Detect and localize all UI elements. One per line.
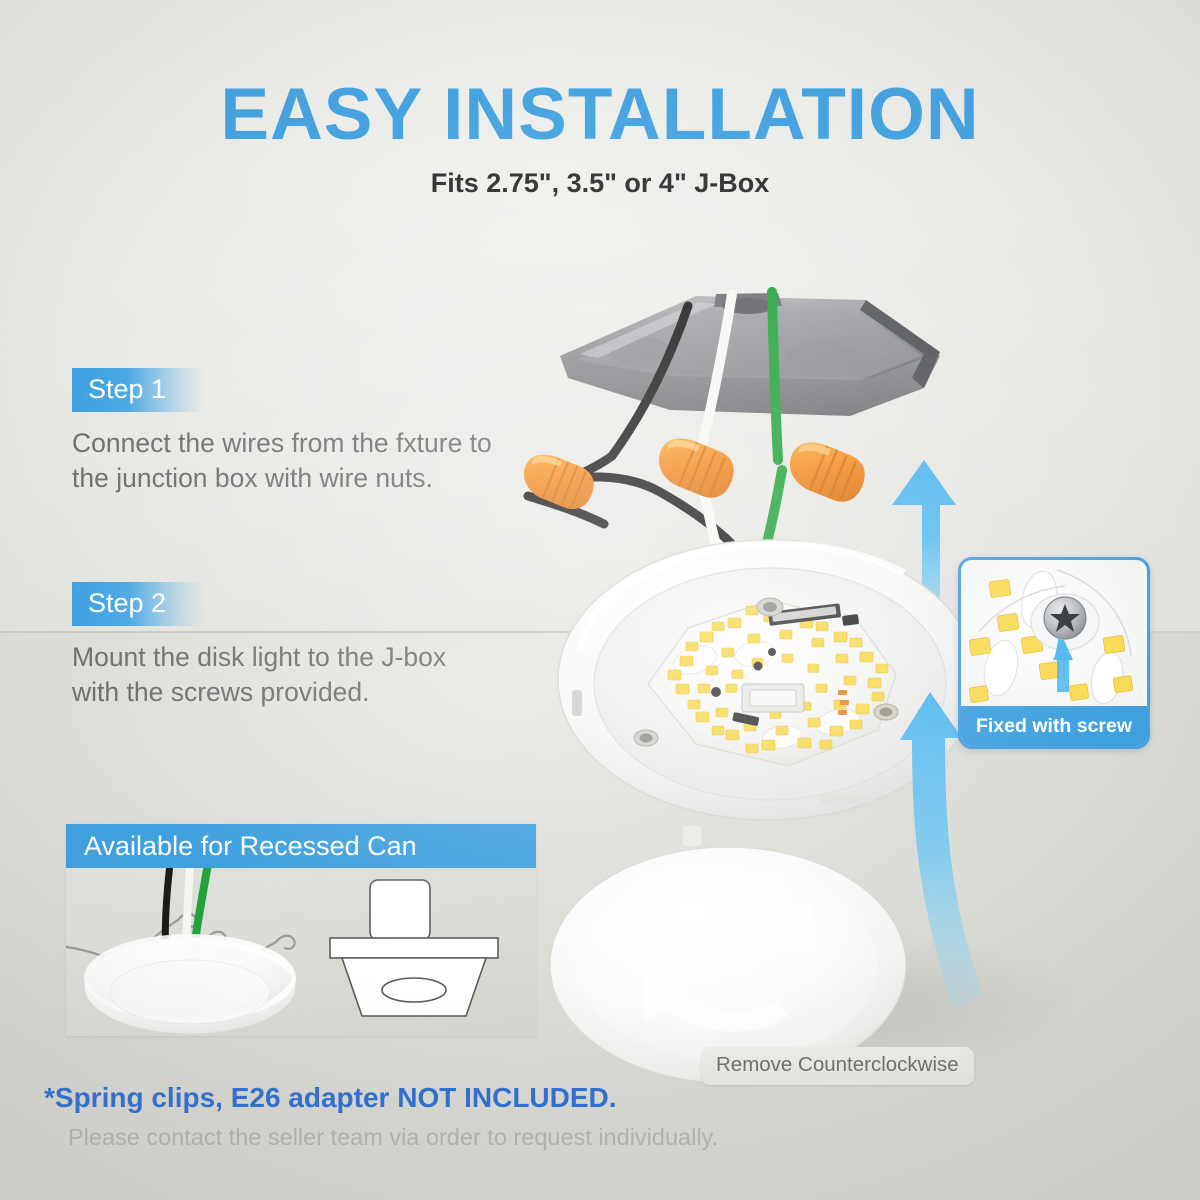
step-1-block: Step 1 Connect the wires from the fxture… xyxy=(72,368,492,496)
recessed-can-illustration xyxy=(66,868,536,1036)
footer-note: *Spring clips, E26 adapter NOT INCLUDED. xyxy=(44,1082,1044,1114)
step-1-badge: Step 1 xyxy=(72,368,204,412)
page-subtitle: Fits 2.75", 3.5" or 4" J-Box xyxy=(0,168,1200,199)
callout-caption: Fixed with screw xyxy=(961,706,1147,746)
diffuser-cover xyxy=(550,825,906,1083)
infographic-canvas: EASY INSTALLATION Fits 2.75", 3.5" or 4"… xyxy=(0,0,1200,1200)
step-2-badge: Step 2 xyxy=(72,582,204,626)
remove-counterclockwise-label: Remove Counterclockwise xyxy=(701,1047,974,1085)
wire-nut-right xyxy=(782,435,871,508)
footer-subnote: Please contact the seller team via order… xyxy=(68,1124,1068,1151)
recessed-can-drawing xyxy=(330,880,498,1016)
disk-light-dome xyxy=(84,934,296,1034)
fixed-with-screw-callout: Fixed with screw xyxy=(958,557,1150,749)
page-title: EASY INSTALLATION xyxy=(0,78,1200,151)
wire-nut-left xyxy=(520,447,600,515)
recessed-can-panel: Available for Recessed Can xyxy=(66,824,536,1036)
junction-box xyxy=(560,293,940,416)
step-2-block: Step 2 Mount the disk light to the J-box… xyxy=(72,582,446,710)
recessed-can-body xyxy=(66,868,536,1036)
recessed-can-heading: Available for Recessed Can xyxy=(66,824,536,868)
step-1-text: Connect the wires from the fxture to the… xyxy=(72,426,492,496)
step-2-text: Mount the disk light to the J-box with t… xyxy=(72,640,446,710)
